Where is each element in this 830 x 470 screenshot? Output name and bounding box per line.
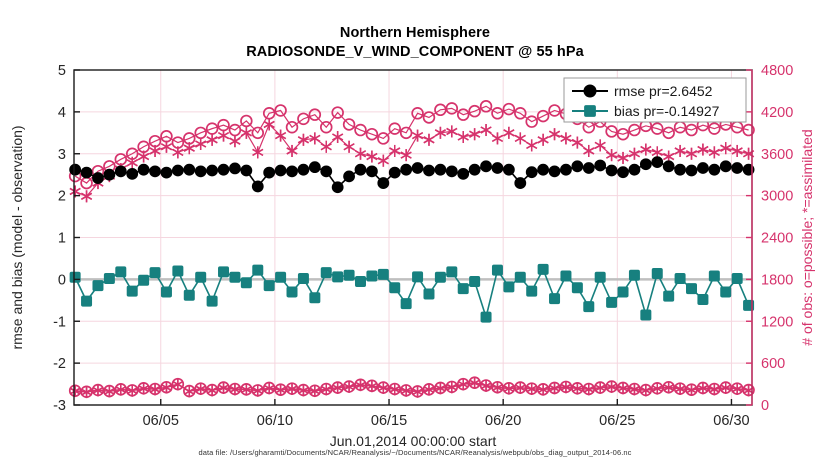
legend[interactable]: rmse pr=2.6452bias pr=-0.14927: [564, 78, 746, 122]
right-tick-label: 600: [761, 356, 785, 372]
bottom-axis: 06/0506/1006/1506/2006/2506/30: [143, 399, 750, 429]
left-tick-label: 1: [58, 231, 66, 247]
left-axis-label: rmse and bias (model - observation): [9, 125, 25, 349]
bottom-tick-label: 06/25: [599, 413, 635, 429]
left-tick-label: 2: [58, 189, 66, 205]
legend-label: bias pr=-0.14927: [614, 103, 720, 119]
series-possible-low: [70, 377, 754, 397]
right-tick-label: 1800: [761, 272, 793, 288]
left-tick-label: 3: [58, 147, 66, 163]
right-tick-label: 2400: [761, 231, 793, 247]
right-tick-label: 3600: [761, 147, 793, 163]
bottom-tick-label: 06/05: [143, 413, 179, 429]
right-tick-label: 3000: [761, 189, 793, 205]
left-tick-label: -3: [53, 398, 66, 414]
legend-item-rmse[interactable]: rmse pr=2.6452: [572, 83, 713, 99]
left-tick-label: 4: [58, 105, 66, 121]
right-tick-label: 4200: [761, 105, 793, 121]
x-axis-label: Jun.01,2014 00:00:00 start: [330, 433, 497, 449]
data-file-footer: data file: /Users/gharamti/Documents/NCA…: [0, 448, 830, 457]
right-tick-label: 4800: [761, 63, 793, 79]
right-tick-label: 0: [761, 398, 769, 414]
right-tick-label: 1200: [761, 314, 793, 330]
legend-label: rmse pr=2.6452: [614, 83, 713, 99]
bottom-tick-label: 06/20: [485, 413, 521, 429]
bottom-tick-label: 06/10: [257, 413, 293, 429]
left-axis: 543210-1-2-3: [53, 63, 80, 414]
series-rmse: [70, 157, 754, 193]
left-tick-label: -1: [53, 314, 66, 330]
legend-item-bias[interactable]: bias pr=-0.14927: [572, 103, 720, 119]
bottom-tick-label: 06/30: [713, 413, 749, 429]
left-tick-label: 5: [58, 63, 66, 79]
plot-canvas: 543210-1-2-3rmse and bias (model - obser…: [0, 0, 830, 470]
left-tick-label: -2: [53, 356, 66, 372]
right-axis: 48004200360030002400180012006000: [746, 63, 793, 414]
series-bias: [70, 264, 753, 322]
bottom-tick-label: 06/15: [371, 413, 407, 429]
right-axis-label: # of obs: o=possible; *=assimilated: [799, 129, 815, 345]
left-tick-label: 0: [58, 272, 66, 288]
